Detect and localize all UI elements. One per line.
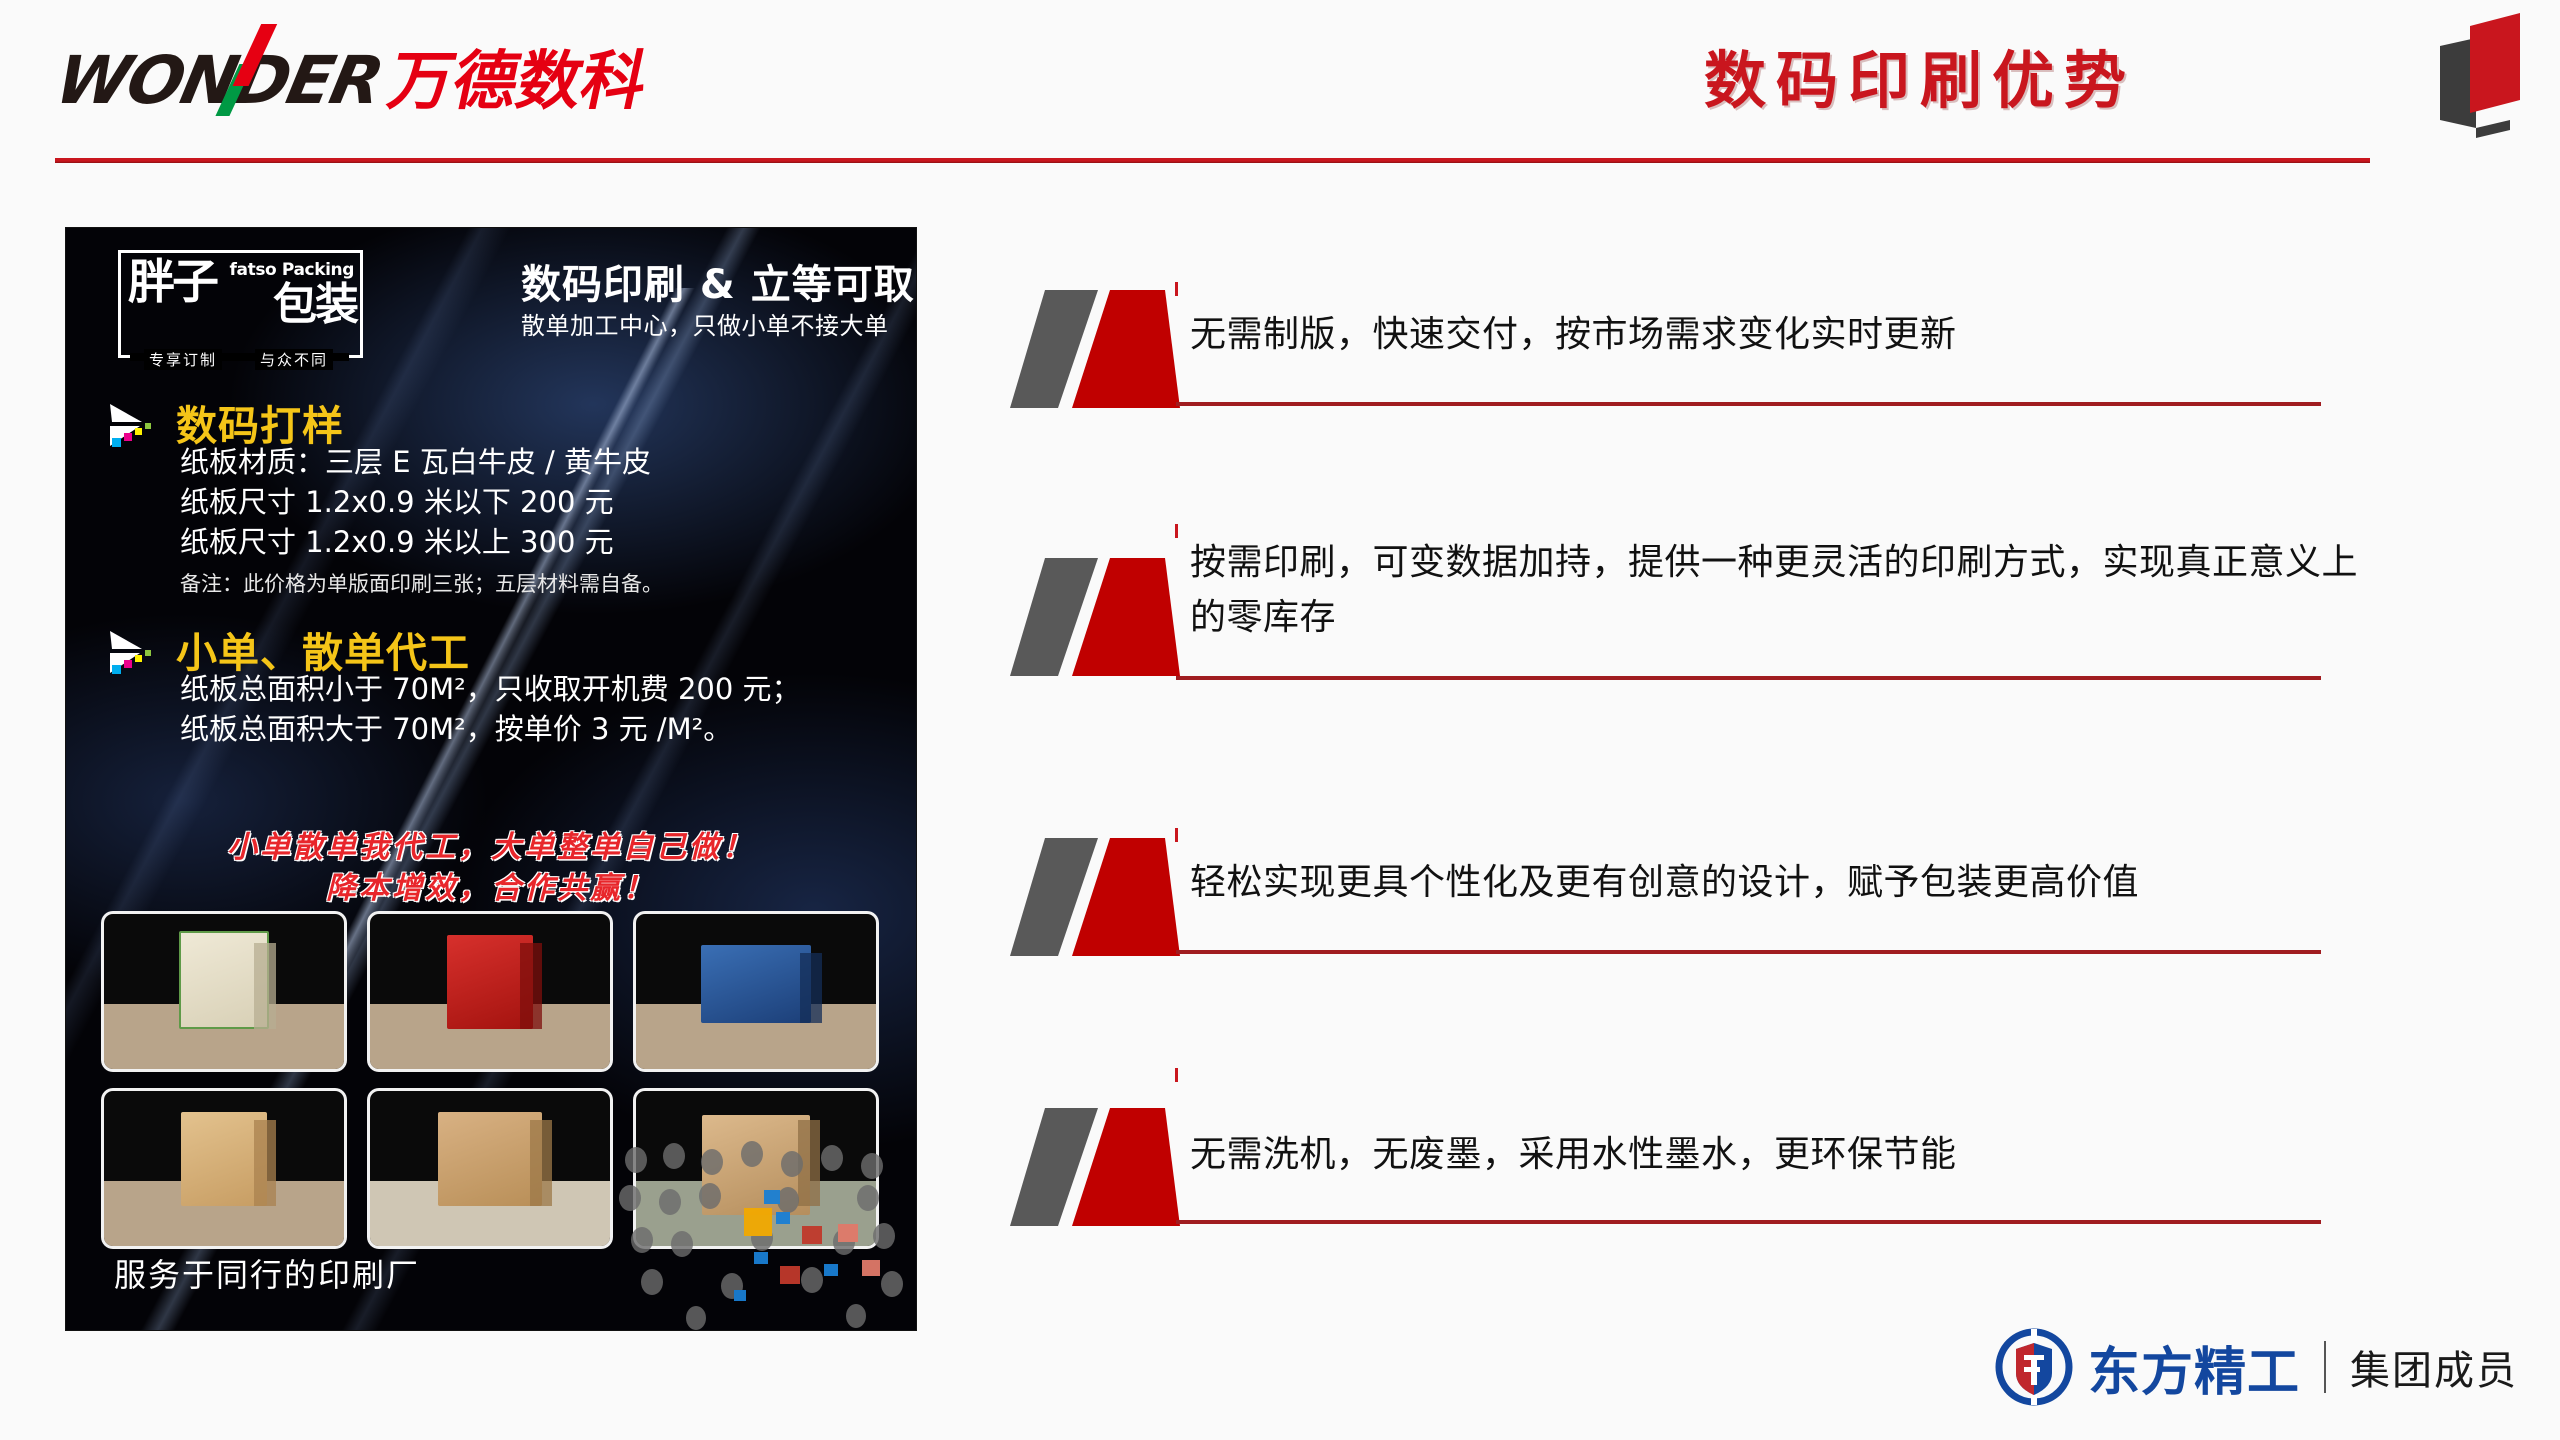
tick-mark <box>1175 524 1178 538</box>
book-decoration-icon <box>2410 8 2530 143</box>
advantage-underline <box>1176 950 2321 954</box>
wonder-logo: WONDER 万德数科 <box>50 42 654 114</box>
dfjg-member-label: 集团成员 <box>2350 1338 2518 1396</box>
footer-divider <box>2324 1341 2326 1393</box>
tick-mark <box>1175 1068 1178 1082</box>
dfjg-company-name: 东方精工 <box>2088 1330 2300 1405</box>
poster-slogan: 小单散单我代工，大单整单自己做！ 降本增效，合作共赢！ <box>66 828 916 909</box>
dot-pattern-decoration <box>616 1140 916 1330</box>
advantage-text: 无需制版，快速交付，按市场需求变化实时更新 <box>1190 308 2360 363</box>
logo-packaging-chars: 包装 <box>273 283 357 327</box>
chevron-marker-icon <box>1010 838 1185 963</box>
product-photo <box>104 914 344 1069</box>
wonder-logo-chinese: 万德数科 <box>383 50 653 114</box>
section-line: 纸板尺寸 1.2x0.9 米以下 200 元 <box>180 482 663 522</box>
logo-fatso-chars: 胖子 <box>128 260 216 306</box>
dfjg-emblem-icon <box>1994 1327 2074 1407</box>
product-photo <box>636 914 876 1069</box>
advantage-text: 无需洗机，无废墨，采用水性墨水，更环保节能 <box>1190 1128 2360 1183</box>
product-photo <box>104 1091 344 1246</box>
poster-subheadline: 散单加工中心，只做小单不接大单 <box>521 306 889 341</box>
chevron-marker-icon <box>1010 1108 1185 1233</box>
dongfang-jinggong-logo: 东方精工 集团成员 <box>1994 1324 2518 1410</box>
section-line: 纸板总面积大于 70M²，按单价 3 元 /M²。 <box>180 709 801 749</box>
section-line: 纸板尺寸 1.2x0.9 米以上 300 元 <box>180 522 663 562</box>
product-photo <box>370 1091 610 1246</box>
advantage-text: 按需印刷，可变数据加持，提供一种更灵活的印刷方式，实现真正意义上的零库存 <box>1190 536 2360 645</box>
section-line: 纸板材质：三层 E 瓦白牛皮 / 黄牛皮 <box>180 442 663 482</box>
slogan-line-2: 降本增效，合作共赢！ <box>66 869 916 910</box>
advantage-underline <box>1176 676 2321 680</box>
fatso-packing-logo: 胖子 fatso Packing 包装 专享订制 与众不同 <box>118 250 363 358</box>
advantage-underline <box>1176 402 2321 406</box>
section-note: 备注：此价格为单版面印刷三张；五层材料需自备。 <box>180 568 663 598</box>
advantage-underline <box>1176 1220 2321 1224</box>
product-photo <box>370 914 610 1069</box>
chevron-marker-icon <box>1010 558 1185 683</box>
wonder-logo-latin: WONDER <box>50 48 387 114</box>
advantage-text: 轻松实现更具个性化及更有创意的设计，赋予包装更高价值 <box>1190 856 2360 911</box>
poster-headline: 数码印刷 & 立等可取 <box>521 252 915 310</box>
arrow-bullet-icon <box>106 627 166 679</box>
section-body: 纸板材质：三层 E 瓦白牛皮 / 黄牛皮 纸板尺寸 1.2x0.9 米以下 20… <box>180 442 663 598</box>
logo-english: fatso Packing <box>230 260 354 280</box>
logo-tagline-left: 专享订制 <box>144 349 222 370</box>
logo-tagline-right: 与众不同 <box>255 349 333 370</box>
arrow-bullet-icon <box>106 400 166 452</box>
slogan-line-1: 小单散单我代工，大单整单自己做！ <box>66 828 916 869</box>
section-line: 纸板总面积小于 70M²，只收取开机费 200 元； <box>180 669 801 709</box>
advantages-list: 无需制版，快速交付，按市场需求变化实时更新 按需印刷，可变数据加持，提供一种更灵… <box>1000 0 2420 1440</box>
poster-footer-text: 服务于同行的印刷厂 <box>114 1250 420 1296</box>
chevron-marker-icon <box>1010 290 1185 415</box>
promo-poster: 胖子 fatso Packing 包装 专享订制 与众不同 数码印刷 & 立等可… <box>66 228 916 1330</box>
section-body: 纸板总面积小于 70M²，只收取开机费 200 元； 纸板总面积大于 70M²，… <box>180 669 801 749</box>
